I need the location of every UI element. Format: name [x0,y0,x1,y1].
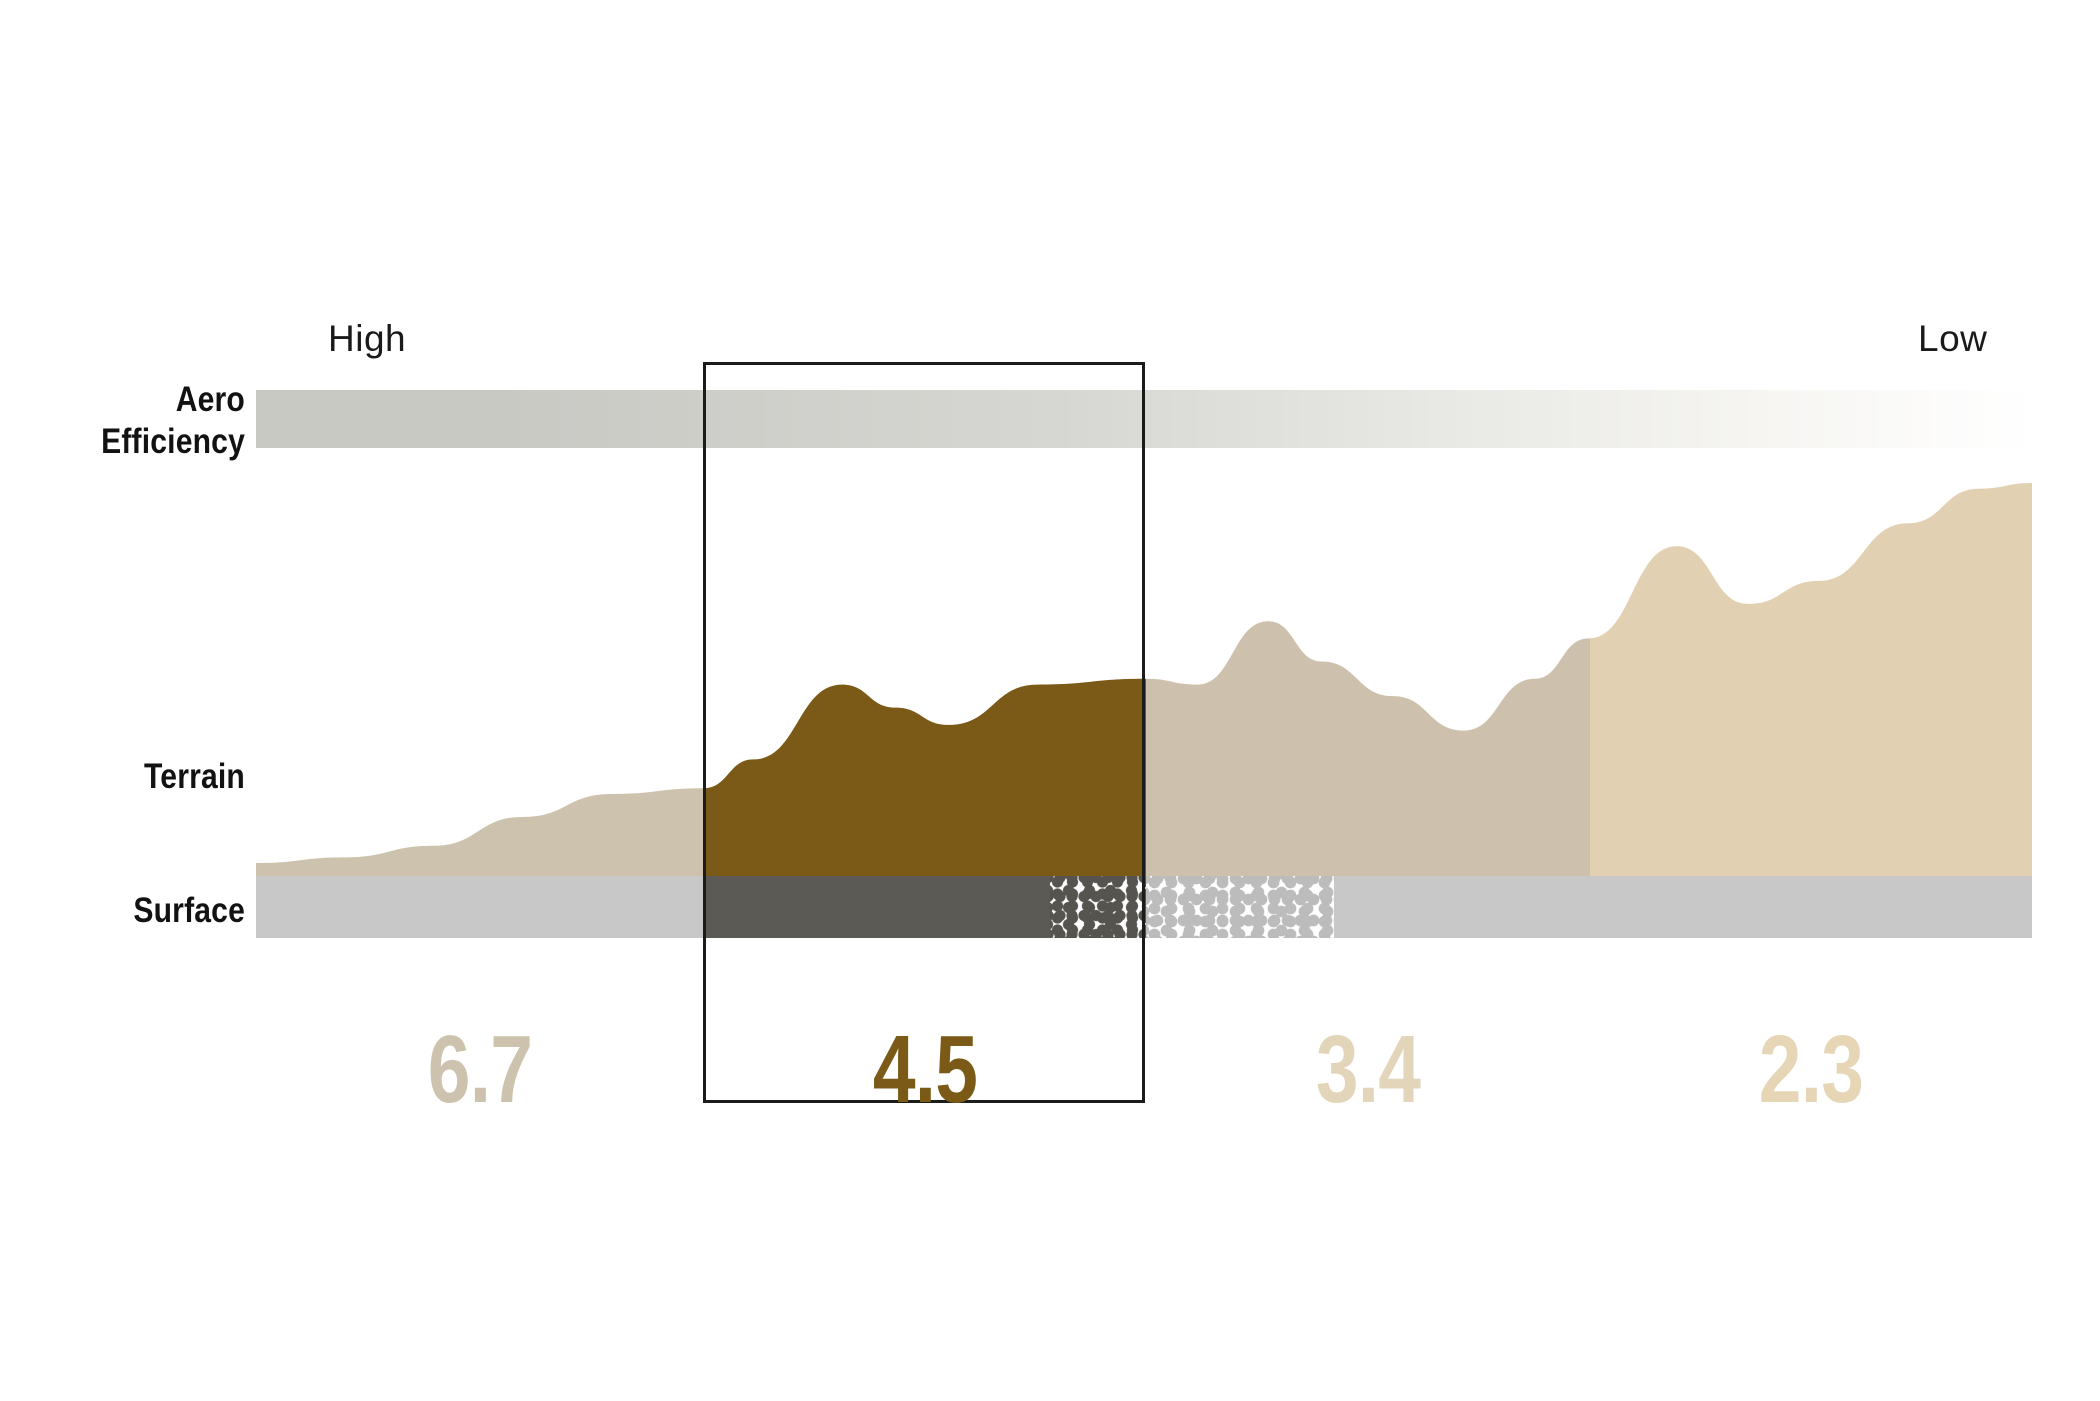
segment-value-1: 6.7 [301,1022,659,1118]
segment-value-2: 4.5 [748,1022,1102,1118]
segment-value-4: 2.3 [1634,1022,1988,1118]
chart-plot-area [256,362,2032,1103]
terrain-elevation-area [256,362,2032,938]
axis-label-aero-efficiency: Aero Efficiency [0,379,245,463]
surface-zone-solid-1 [704,876,1050,938]
infographic-canvas: Aero Efficiency Terrain Surface High Low… [0,0,2100,1401]
segment-value-3: 3.4 [1190,1022,1545,1118]
surface-type-band [256,876,2032,938]
surface-zone-gravel-dark-2 [1050,876,1146,938]
scale-end-label-low: Low [1918,318,1987,360]
axis-label-terrain: Terrain [0,756,245,798]
scale-end-label-high: High [328,318,406,360]
surface-zone-solid-0 [256,876,704,938]
surface-zone-solid-4 [1334,876,2032,938]
axis-label-surface: Surface [0,890,245,932]
surface-zone-gravel-light-3 [1146,876,1334,938]
